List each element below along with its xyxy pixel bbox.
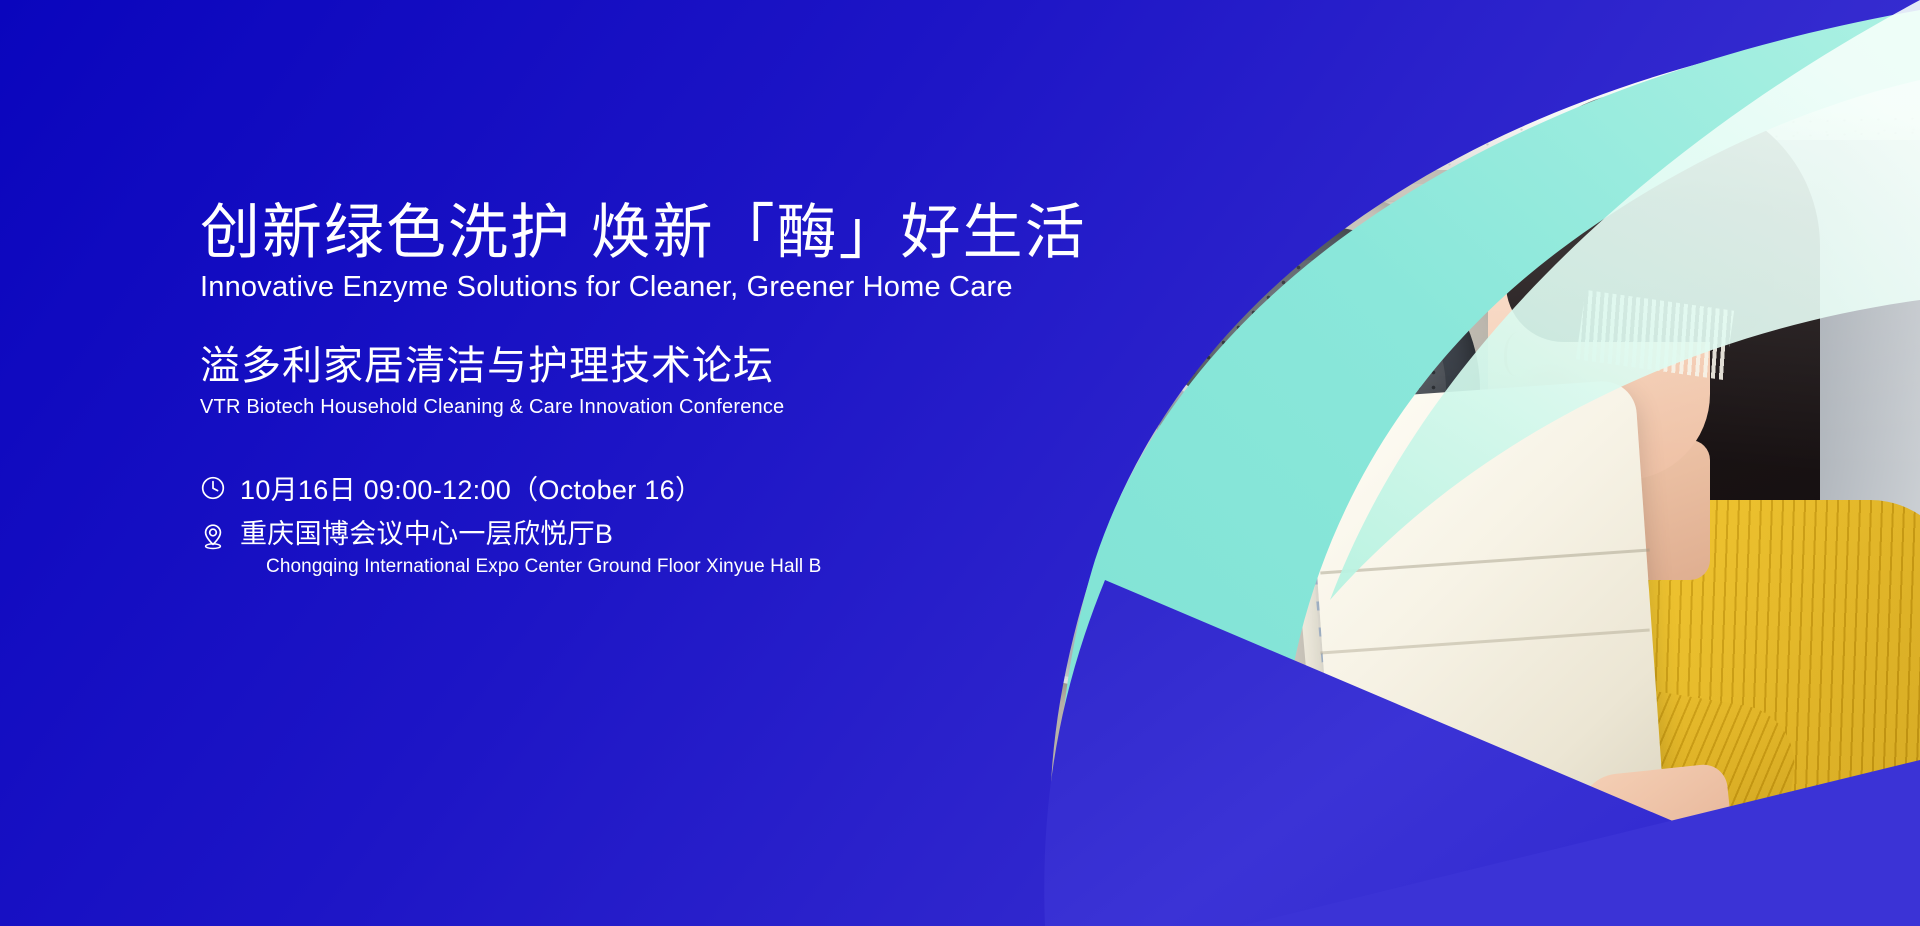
hand [1576,762,1735,867]
venue-text-cn: 重庆国博会议中心一层欣悦厅B [240,519,821,550]
subtitle-cn: 溢多利家居清洁与护理技术论坛 [200,342,1100,391]
door-hinge-bottom [1216,560,1246,600]
datetime-text: 10月16日 09:00-12:00（October 16） [240,468,702,507]
door-hinge-top [1216,430,1246,470]
page-title-en: Innovative Enzyme Solutions for Cleaner,… [200,270,1100,305]
nose [1504,332,1533,376]
venue-text-en: Chongqing International Expo Center Grou… [266,556,821,579]
folded-towel-main [1305,379,1665,841]
conference-banner: 创新绿色洗护 焕新「酶」好生活 Innovative Enzyme Soluti… [0,0,1920,926]
venue-text-group: 重庆国博会议中心一层欣悦厅B Chongqing International E… [240,519,821,579]
clock-icon [200,475,226,501]
subtitle-en: VTR Biotech Household Cleaning & Care In… [200,395,1100,420]
page-title-cn: 创新绿色洗护 焕新「酶」好生活 [200,198,1100,268]
banner-text-block: 创新绿色洗护 焕新「酶」好生活 Innovative Enzyme Soluti… [200,198,1100,579]
hero-photo-stage [960,0,1920,926]
hair-highlight [1532,112,1722,202]
venue-row: 重庆国博会议中心一层欣悦厅B Chongqing International E… [200,519,1100,579]
location-pin-icon [200,522,226,550]
datetime-row: 10月16日 09:00-12:00（October 16） [200,468,1100,507]
laundry-photo [1020,0,1920,926]
